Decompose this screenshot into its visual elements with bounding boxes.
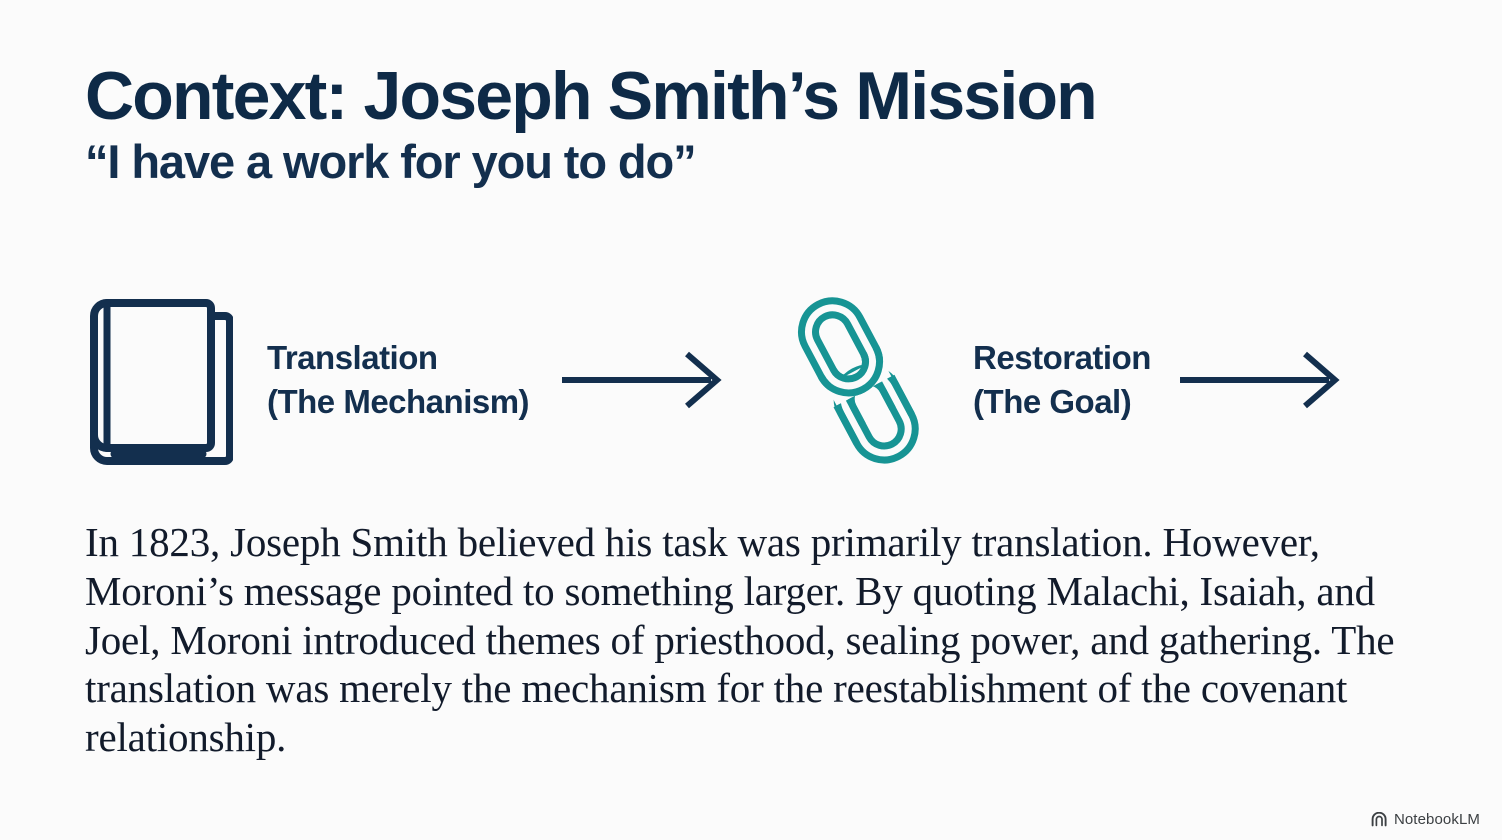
flow-step-restoration: Restoration (The Goal) <box>767 285 1151 475</box>
flow-label-restoration-primary: Restoration <box>973 339 1151 376</box>
book-icon <box>85 290 233 470</box>
arrow-translation-to-restoration-icon <box>559 351 725 409</box>
slide-header: Context: Joseph Smith’s Mission “I have … <box>85 62 1425 187</box>
flow-label-translation-secondary: (The Mechanism) <box>267 380 529 424</box>
slide-canvas: Context: Joseph Smith’s Mission “I have … <box>0 0 1502 840</box>
notebooklm-watermark: NotebookLM <box>1371 811 1480 828</box>
flow-label-translation-primary: Translation <box>267 339 438 376</box>
flow-step-translation: Translation (The Mechanism) <box>85 290 529 470</box>
chain-link-icon <box>767 285 947 475</box>
flow-label-restoration-secondary: (The Goal) <box>973 380 1151 424</box>
notebooklm-logo-icon <box>1371 812 1388 827</box>
body-paragraph: In 1823, Joseph Smith believed his task … <box>85 518 1437 762</box>
notebooklm-watermark-label: NotebookLM <box>1394 811 1480 828</box>
flow-label-restoration: Restoration (The Goal) <box>973 336 1151 423</box>
arrow-restoration-onward-icon <box>1177 351 1343 409</box>
page-title: Context: Joseph Smith’s Mission <box>85 62 1425 131</box>
flow-diagram: Translation (The Mechanism) <box>85 285 1425 475</box>
flow-label-translation: Translation (The Mechanism) <box>267 336 529 423</box>
page-subtitle: “I have a work for you to do” <box>85 137 1425 186</box>
